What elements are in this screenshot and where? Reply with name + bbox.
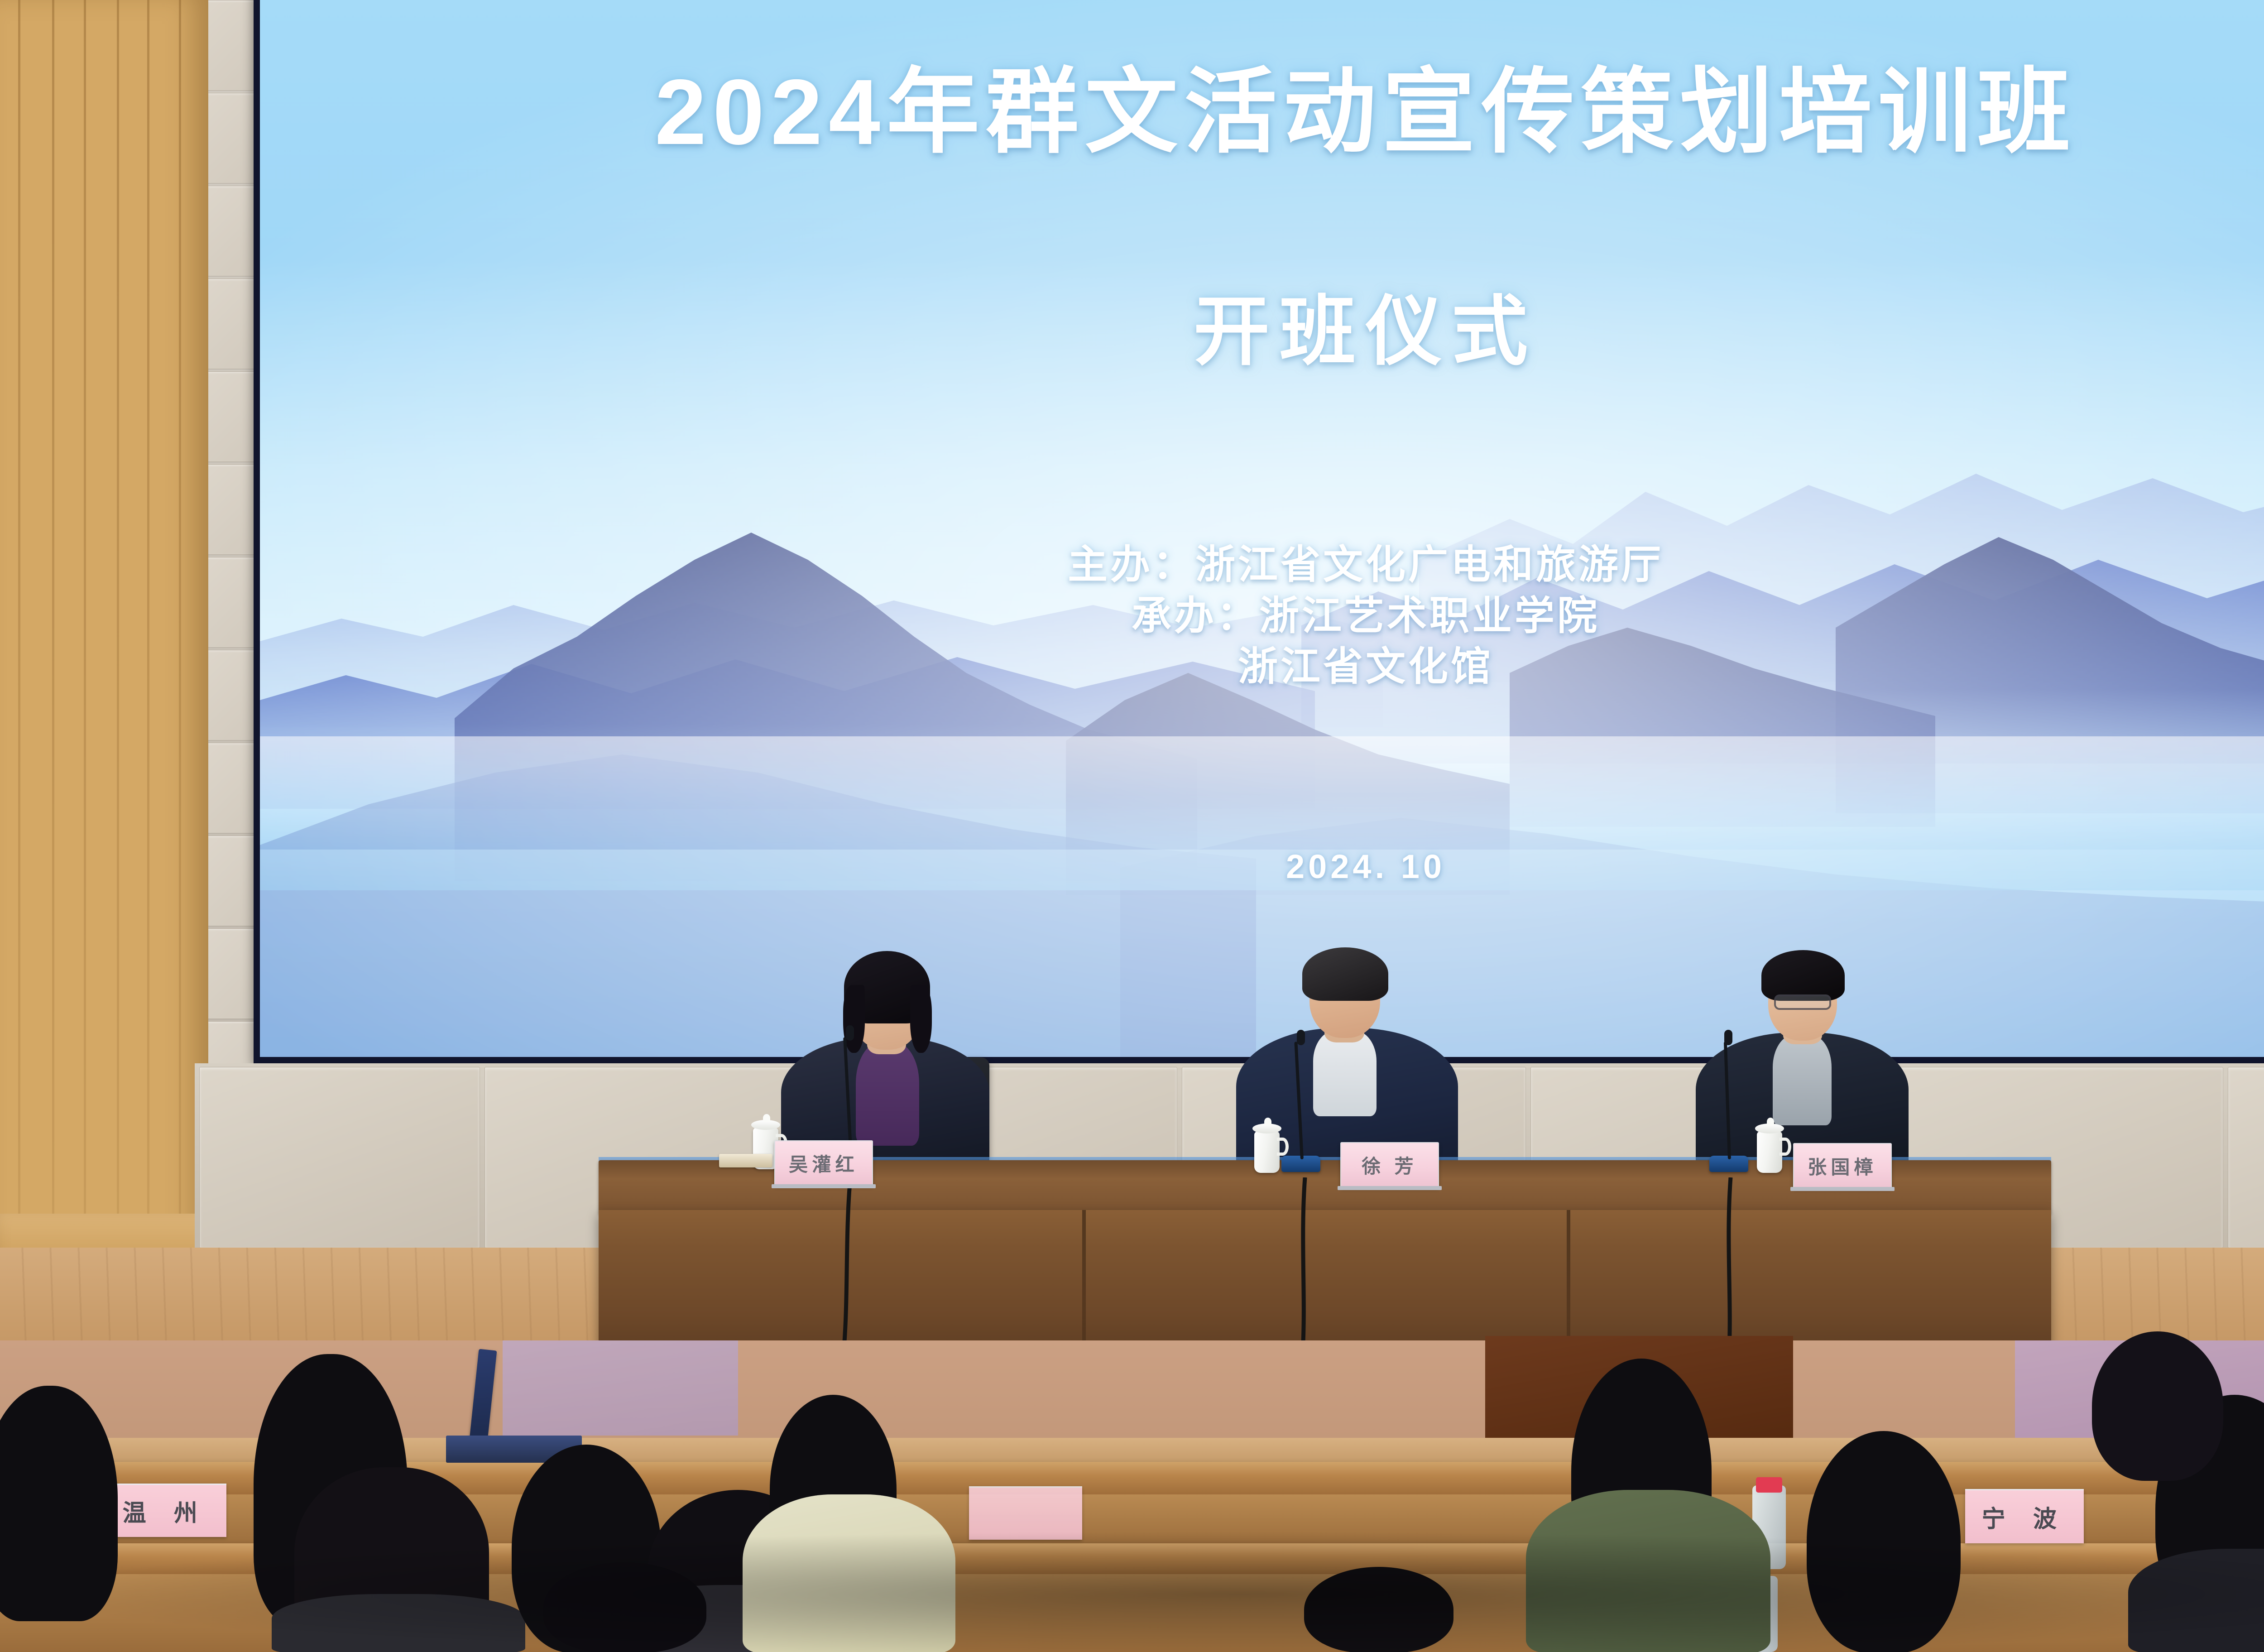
microphone-head-center xyxy=(1297,1030,1305,1045)
nameplate-right-foot xyxy=(1790,1187,1895,1191)
led-display: 2024年群文活动宣传策划培训班 开班仪式 主办：浙江省文化广电和旅游厅 承办：… xyxy=(260,0,2264,1057)
microphone-head-right xyxy=(1724,1030,1732,1045)
led-display-bezel: 2024年群文活动宣传策划培训班 开班仪式 主办：浙江省文化广电和旅游厅 承办：… xyxy=(254,0,2264,1064)
nameplate-left: 吴灌红 xyxy=(774,1140,873,1186)
nameplate-left-foot xyxy=(772,1184,876,1188)
organizer-line-2: 承办：浙江艺术职业学院 xyxy=(260,591,2264,642)
tea-mug-right xyxy=(1757,1131,1782,1173)
wall-shadow-panel-1 xyxy=(503,1340,738,1436)
foreground-shadow xyxy=(0,1531,2264,1652)
nameplate-center: 徐 芳 xyxy=(1340,1142,1439,1187)
water-bottle-cap-center xyxy=(1756,1477,1782,1493)
slide-subtitle: 开班仪式 xyxy=(260,270,2264,380)
slide-content: 2024年群文活动宣传策划培训班 开班仪式 主办：浙江省文化广电和旅游厅 承办：… xyxy=(260,0,2264,1057)
eyeglasses xyxy=(1774,994,1831,1010)
nameplate-right: 张国樟 xyxy=(1793,1143,1892,1188)
notebook-stack xyxy=(719,1154,772,1167)
tea-mug-center xyxy=(1254,1131,1280,1173)
stage-curtain-left xyxy=(0,0,208,1300)
slide-organizers: 主办：浙江省文化广电和旅游厅 承办：浙江艺术职业学院 浙江省文化馆 xyxy=(260,539,2264,692)
organizer-line-3: 浙江省文化馆 xyxy=(260,641,2264,692)
slide-date: 2024. 10 xyxy=(260,847,2264,886)
conference-hall-photo: 2024年群文活动宣传策划培训班 开班仪式 主办：浙江省文化广电和旅游厅 承办：… xyxy=(0,0,2264,1652)
slide-title: 2024年群文活动宣传策划培训班 xyxy=(260,37,2264,171)
organizer-line-1: 主办：浙江省文化广电和旅游厅 xyxy=(260,539,2264,591)
nameplate-center-foot xyxy=(1338,1186,1442,1190)
microphone-head-left xyxy=(846,1025,854,1041)
audience-placard-wenzhou: 温 州 xyxy=(104,1484,226,1537)
